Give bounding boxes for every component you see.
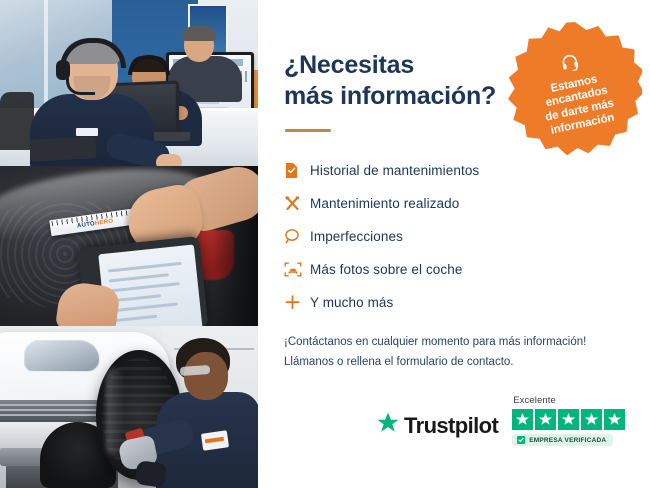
headset-icon xyxy=(558,51,582,78)
rating-label: Excelente xyxy=(513,395,556,406)
star-rating xyxy=(512,409,625,430)
feature-list: Historial de mantenimientos Mantenimient… xyxy=(284,154,650,319)
list-item: Más fotos sobre el coche xyxy=(284,253,650,286)
title-divider xyxy=(285,129,331,132)
trustpilot-brand: Trustpilot xyxy=(404,413,498,439)
feature-label: Imperfecciones xyxy=(310,229,403,244)
star-filled xyxy=(512,409,533,430)
magnifier-icon xyxy=(284,228,310,245)
status-badge: EMPRESA VERIFICADA xyxy=(512,434,613,446)
list-item: Historial de mantenimientos xyxy=(284,154,650,187)
star-filled xyxy=(558,409,579,430)
wrench-screwdriver-icon xyxy=(284,195,310,212)
plus-icon xyxy=(284,294,310,311)
content-panel: ¿Necesitas más información? Historial de… xyxy=(258,0,650,488)
list-item: Imperfecciones xyxy=(284,220,650,253)
trustpilot-logo[interactable]: Trustpilot xyxy=(376,411,498,446)
badge-text: Estamos encantados de darte más informac… xyxy=(539,71,619,139)
check-icon xyxy=(517,436,525,444)
list-item: Y mucho más xyxy=(284,286,650,319)
call-center-agents-photo xyxy=(0,0,258,166)
star-filled xyxy=(604,409,625,430)
car-inspection-ruler-photo: AUTOHERO xyxy=(0,166,258,326)
star-filled xyxy=(581,409,602,430)
information-banner: AUTOHERO xyxy=(0,0,650,488)
promo-badge: Estamos encantados de darte más informac… xyxy=(508,22,642,156)
headline-line-2: más información? xyxy=(284,81,514,112)
contact-line-2: Llámanos o rellena el formulario de cont… xyxy=(284,353,644,373)
feature-label: Más fotos sobre el coche xyxy=(310,262,462,277)
headline-line-1: ¿Necesitas xyxy=(284,50,514,81)
trustpilot-block: Trustpilot Excelente xyxy=(376,395,625,446)
page-title: ¿Necesitas más información? xyxy=(284,50,514,111)
list-item: Mantenimiento realizado xyxy=(284,187,650,220)
trustpilot-rating: Excelente xyxy=(512,395,625,446)
contact-line-1: ¡Contáctanos en cualquier momento para m… xyxy=(284,333,644,353)
verified-label: EMPRESA VERIFICADA xyxy=(529,437,606,444)
feature-label: Historial de mantenimientos xyxy=(310,163,479,178)
star-filled xyxy=(535,409,556,430)
trustpilot-star-icon xyxy=(376,411,400,440)
mechanic-wheel-photo xyxy=(0,326,258,488)
photo-column: AUTOHERO xyxy=(0,0,258,488)
contact-text: ¡Contáctanos en cualquier momento para m… xyxy=(284,333,644,372)
document-check-icon xyxy=(284,162,310,179)
feature-label: Y mucho más xyxy=(310,295,393,310)
feature-label: Mantenimiento realizado xyxy=(310,196,459,211)
car-scan-icon xyxy=(284,261,310,278)
